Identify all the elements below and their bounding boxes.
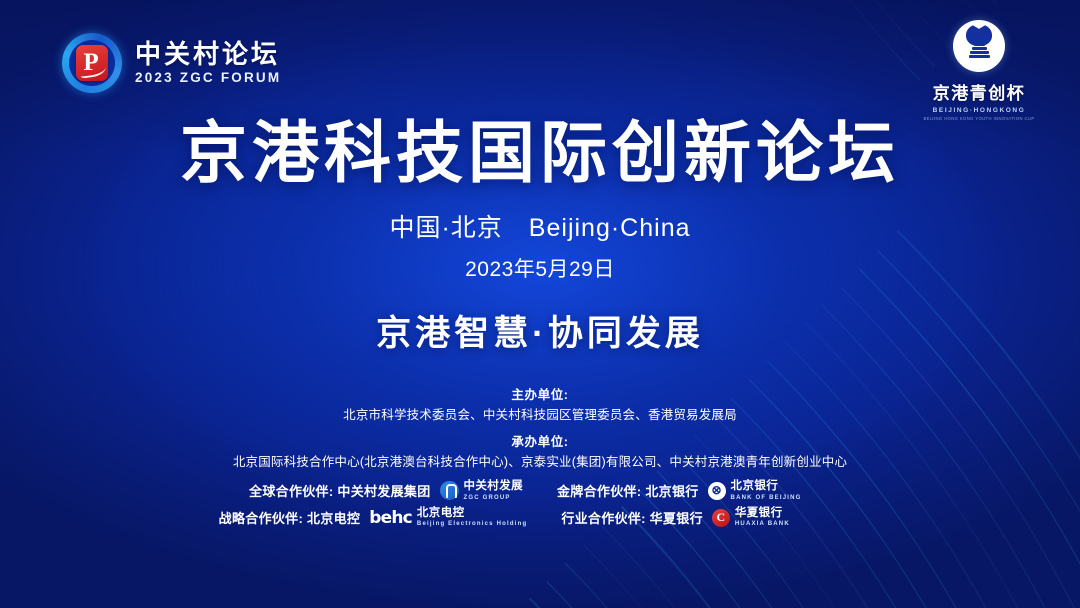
partner-strategic-label: 战略合作伙伴: 北京电控 — [219, 508, 361, 527]
hk-cup-name-cn: 京港青创杯 — [920, 79, 1038, 104]
partner-gold-label: 金牌合作伙伴: 北京银行 — [557, 481, 699, 500]
partner-industry-label: 行业合作伙伴: 华夏银行 — [561, 508, 703, 527]
zgc-swoosh-icon — [79, 61, 107, 78]
behc-logo-icon: behc 北京电控 Beijing Electronics Holding — [369, 508, 527, 528]
location-subtitle: 中国·北京 Beijing·China — [0, 208, 1080, 244]
host-value: 北京市科学技术委员会、中关村科技园区管理委员会、香港贸易发展局 — [0, 405, 1080, 425]
partners-block: 全球合作伙伴: 中关村发展集团 中关村发展 ZGC GROUP 金牌合作伙伴: … — [0, 481, 1080, 535]
behc-wordmark: behc — [369, 508, 412, 528]
zgc-group-name-en: ZGC GROUP — [464, 495, 524, 501]
partner-global-label: 全球合作伙伴: 中关村发展集团 — [249, 481, 430, 500]
zgc-forum-logo: P 中关村论坛 2023 ZGC FORUM — [62, 33, 281, 93]
title-block: 京港科技国际创新论坛 中国·北京 Beijing·China 2023年5月29… — [0, 118, 1080, 356]
zgc-forum-mark-icon: P — [62, 33, 122, 93]
event-date: 2023年5月29日 — [0, 253, 1080, 283]
partner-row-2: 战略合作伙伴: 北京电控 behc 北京电控 Beijing Electroni… — [0, 508, 1080, 528]
behc-name-cn: 北京电控 — [417, 508, 527, 520]
zgc-group-mark-icon — [440, 481, 459, 500]
forum-poster: P 中关村论坛 2023 ZGC FORUM 京港青创杯 BEIJING·HON… — [0, 0, 1080, 608]
partner-global: 全球合作伙伴: 中关村发展集团 中关村发展 ZGC GROUP — [223, 481, 523, 501]
huaxia-bank-mark-icon: C — [712, 509, 730, 527]
partner-strategic: 战略合作伙伴: 北京电控 behc 北京电控 Beijing Electroni… — [219, 508, 528, 528]
partner-row-1: 全球合作伙伴: 中关村发展集团 中关村发展 ZGC GROUP 金牌合作伙伴: … — [0, 481, 1080, 501]
zgc-forum-name-cn: 中关村论坛 — [135, 41, 281, 68]
zgc-group-name-cn: 中关村发展 — [464, 481, 524, 493]
page-title: 京港科技国际创新论坛 — [0, 118, 1080, 190]
zgc-group-logo-icon: 中关村发展 ZGC GROUP — [440, 481, 524, 501]
partner-industry: 行业合作伙伴: 华夏银行 C 华夏银行 HUAXIA BANK — [561, 508, 861, 528]
hk-cup-name-en: BEIJING·HONGKONG — [920, 107, 1038, 114]
zgc-badge-icon: P — [76, 45, 108, 81]
host-label: 主办单位: — [0, 386, 1080, 405]
zgc-forum-name-en: 2023 ZGC FORUM — [135, 70, 281, 85]
huaxia-bank-logo-icon: C 华夏银行 HUAXIA BANK — [712, 508, 790, 528]
bank-of-beijing-mark-icon: ⊗ — [708, 482, 726, 500]
partner-gold: 金牌合作伙伴: 北京银行 ⊗ 北京银行 BANK OF BEIJING — [557, 481, 857, 501]
co-host-value: 北京国际科技合作中心(北京港澳台科技合作中心)、京泰实业(集团)有限公司、中关村… — [0, 452, 1080, 472]
huaxia-bank-name-cn: 华夏银行 — [735, 508, 790, 520]
beijing-hongkong-cup-logo: 京港青创杯 BEIJING·HONGKONG BEIJING HONG KONG… — [920, 20, 1038, 121]
bank-of-beijing-name-cn: 北京银行 — [731, 481, 802, 493]
pagoda-icon — [968, 39, 990, 69]
bank-of-beijing-logo-icon: ⊗ 北京银行 BANK OF BEIJING — [708, 481, 802, 501]
co-host-label: 承办单位: — [0, 433, 1080, 452]
beijing-hongkong-cup-emblem-icon — [953, 20, 1005, 72]
event-theme: 京港智慧·协同发展 — [0, 305, 1080, 356]
organizers-block: 主办单位: 北京市科学技术委员会、中关村科技园区管理委员会、香港贸易发展局 承办… — [0, 386, 1080, 472]
bank-of-beijing-name-en: BANK OF BEIJING — [731, 495, 802, 501]
behc-name-en: Beijing Electronics Holding — [417, 521, 527, 527]
huaxia-bank-name-en: HUAXIA BANK — [735, 521, 790, 527]
